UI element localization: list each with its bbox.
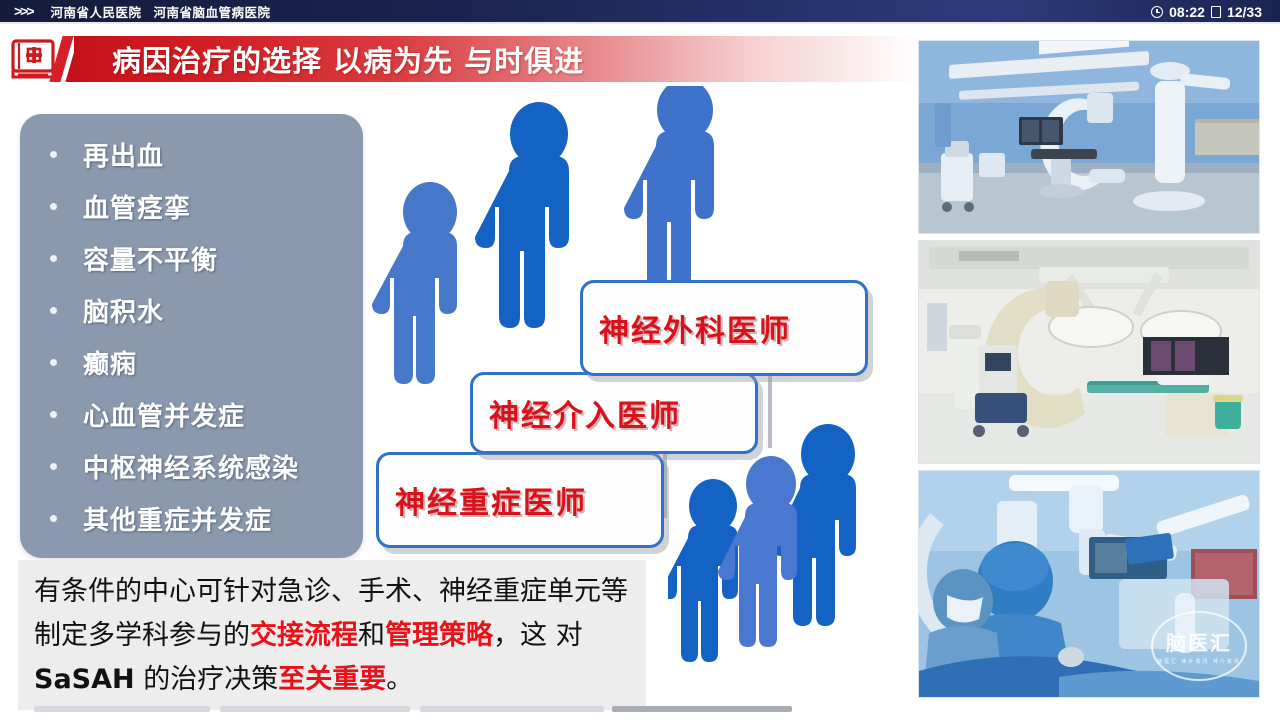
caption-part-4: 的治疗决策 [135,664,279,695]
watermark-logo: 脑医汇 脑医汇 神外资讯 神介资讯 [1151,611,1247,681]
bullet-icon [50,203,57,210]
callout-label: 神经重症医师 [379,478,587,522]
list-item-label: 再出血 [83,136,164,173]
list-item-label: 血管痉挛 [83,188,191,225]
time-label: 08:22 [1169,4,1205,20]
person-figure-medium [624,86,714,295]
list-item-label: 脑积水 [83,292,164,329]
bullet-icon [50,411,57,418]
clock-icon [1151,6,1163,18]
people-group-figures [668,418,898,668]
list-item-label: 中枢神经系统感染 [83,448,299,485]
bullet-icon [50,463,57,470]
bullet-icon [50,151,57,158]
callout-box-neurosurgery[interactable]: 神经外科医师 [580,280,868,376]
list-item-label: 其他重症并发症 [83,500,272,537]
progress-segment [34,706,210,712]
watermark-subtext: 脑医汇 神外资讯 神介资讯 [1157,658,1241,665]
page-counter-label: 12/33 [1227,4,1262,20]
callout-connector-1 [768,376,772,448]
bullet-icon [50,307,57,314]
list-item-label: 心血管并发症 [83,396,245,433]
callout-label: 神经外科医师 [583,306,791,350]
progress-segment [220,706,410,712]
caption-highlight-1: 交接流程 [250,620,358,651]
page-title: 病因治疗的选择 以病为先 与时俱进 [112,36,584,82]
callout-box-neurocritical[interactable]: 神经重症医师 [376,452,664,548]
top-status-bar: >>> 河南省人民医院 河南省脑血管病医院 08:22 12/33 [0,0,1280,24]
hospital-primary-label: 河南省人民医院 [51,2,142,21]
caption-part-2: 和 [358,620,385,651]
surgery-in-progress-photo: 脑医汇 脑医汇 神外资讯 神介资讯 [918,470,1260,698]
person-figure-short [372,182,457,384]
person-figure-tall [475,102,569,328]
list-item: 再出血 [20,128,363,180]
caption-part-3: ，这 对 [493,620,583,651]
hospital-secondary-label: 河南省脑血管病医院 [154,2,271,21]
angiography-suite-photo [918,40,1260,234]
caption-part-5: 。 [386,664,413,695]
hybrid-operating-room-photo [918,240,1260,464]
list-item: 脑积水 [20,284,363,336]
list-item-label: 癫痫 [83,344,137,381]
watermark-text: 脑医汇 [1166,627,1232,656]
progress-segment-active [612,706,792,712]
list-item: 心血管并发症 [20,388,363,440]
caption-text-box: 有条件的中心可针对急诊、手术、神经重症单元等制定多学科参与的交接流程和管理策略，… [18,560,646,710]
list-item: 癫痫 [20,336,363,388]
list-item: 血管痉挛 [20,180,363,232]
caption-highlight-3: 至关重要 [278,664,386,695]
chevrons-icon: >>> [14,3,33,19]
progress-segment [420,706,604,712]
status-right-group: 08:22 12/33 [1151,0,1262,24]
caption-abbrev: SaSAH [34,664,135,695]
caption-highlight-2: 管理策略 [385,620,493,651]
callout-box-neurointervention[interactable]: 神经介入医师 [470,372,758,454]
list-item: 中枢神经系统感染 [20,440,363,492]
list-item: 其他重症并发症 [20,492,363,544]
list-item: 容量不平衡 [20,232,363,284]
list-item-label: 容量不平衡 [83,240,218,277]
page-icon [1211,6,1221,18]
person-figure-group-center [718,456,797,647]
bullet-icon [50,515,57,522]
complications-panel: 再出血 血管痉挛 容量不平衡 脑积水 癫痫 心血管并发症 中枢神经系统感染 其 [20,114,363,558]
bullet-icon [50,359,57,366]
bullet-icon [50,255,57,262]
callout-label: 神经介入医师 [473,391,681,435]
slide-canvas: >>> 河南省人民医院 河南省脑血管病医院 08:22 12/33 病因治疗的选… [0,0,1280,720]
bottom-progress-bar[interactable] [34,706,794,712]
